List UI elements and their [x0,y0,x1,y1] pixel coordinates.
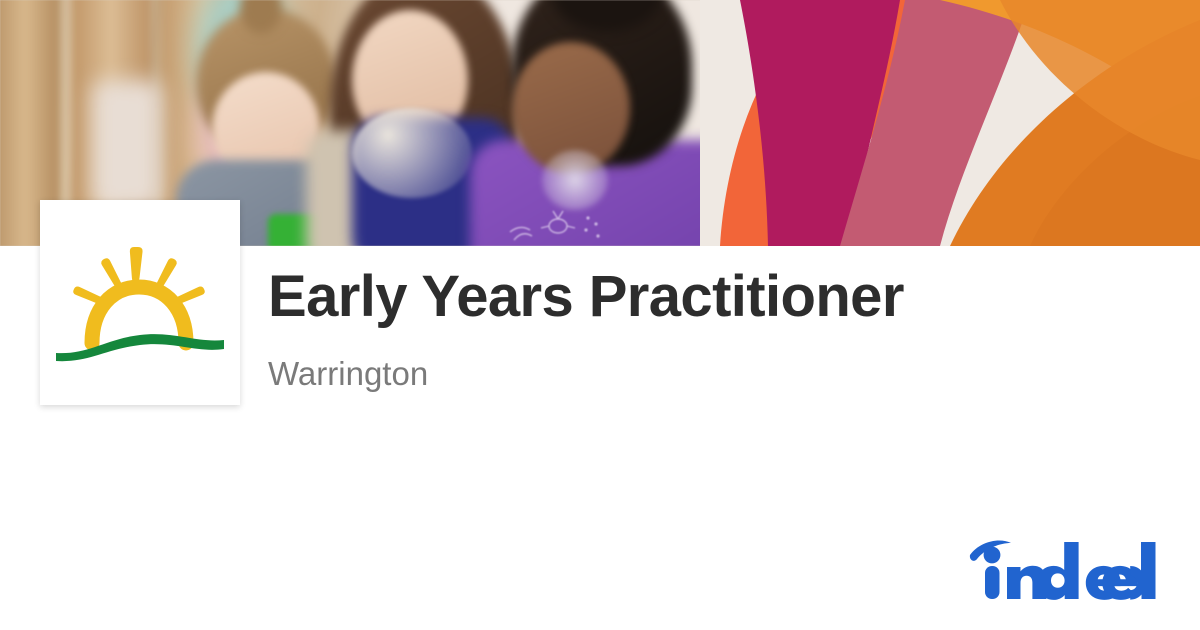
page-title: Early Years Practitioner [268,268,904,326]
company-logo-card [40,200,240,405]
photo-shirt-print-icon [500,196,620,246]
photo-woman-a-necklace [352,108,472,198]
indeed-logo [966,538,1156,600]
indeed-logo-icon [966,538,1156,600]
job-location: Warrington [268,357,428,390]
job-posting-share-card: Early Years Practitioner Warrington [0,0,1200,630]
photo-shelf-object [92,80,162,210]
sunrise-over-hill-logo-icon [54,243,226,363]
abstract-brand-graphic [700,0,1200,246]
